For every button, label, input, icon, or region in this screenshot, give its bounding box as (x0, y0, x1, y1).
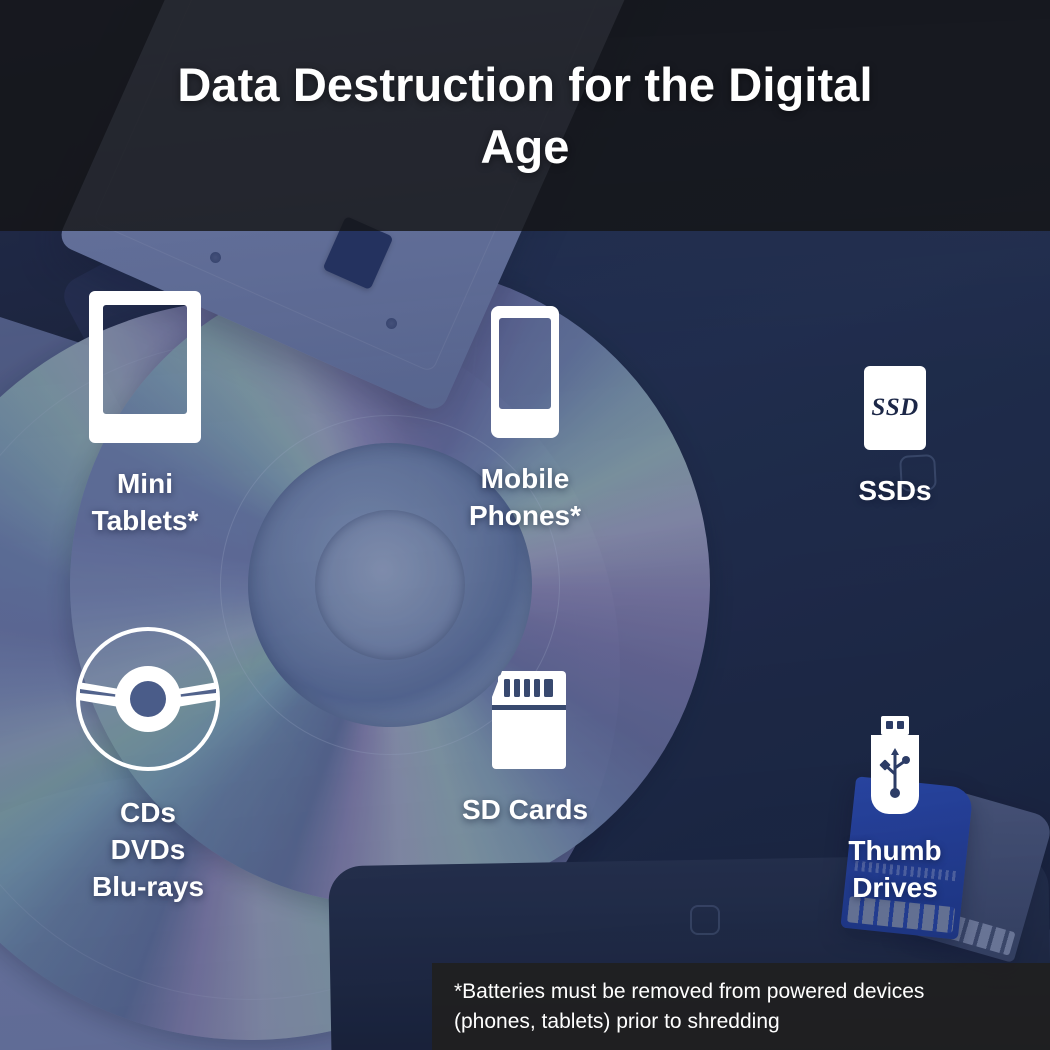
category-grid: Mini Tablets* Mobile Phones* SSD SSDs (0, 231, 1050, 966)
category-label: CDs DVDs Blu-rays (92, 794, 204, 906)
category-mobile-phones[interactable]: Mobile Phones* (425, 306, 625, 534)
category-sd-cards[interactable]: SD Cards (425, 671, 625, 828)
category-optical-discs[interactable]: CDs DVDs Blu-rays (48, 626, 248, 906)
page-title: Data Destruction for the Digital Age (175, 54, 875, 176)
category-label: SD Cards (462, 791, 588, 828)
category-mini-tablets[interactable]: Mini Tablets* (45, 291, 245, 539)
footer-disclaimer-text: *Batteries must be removed from powered … (432, 977, 930, 1037)
category-label: Thumb Drives (848, 832, 941, 906)
category-ssds[interactable]: SSD SSDs (795, 366, 995, 509)
footer-disclaimer-bar: *Batteries must be removed from powered … (432, 963, 1050, 1050)
usb-thumb-drive-icon (867, 716, 923, 814)
category-label: Mobile Phones* (469, 460, 581, 534)
mobile-phone-icon (491, 306, 559, 438)
ssd-icon: SSD (864, 366, 926, 450)
compact-disc-icon (75, 626, 221, 772)
category-thumb-drives[interactable]: Thumb Drives (795, 716, 995, 906)
category-label: SSDs (858, 472, 931, 509)
tablet-icon (89, 291, 201, 443)
ssd-icon-text: SSD (871, 394, 918, 422)
infographic-poster: Data Destruction for the Digital Age Min… (0, 0, 1050, 1050)
category-label: Mini Tablets* (92, 465, 199, 539)
header-band: Data Destruction for the Digital Age (0, 0, 1050, 231)
sd-card-icon (484, 671, 566, 769)
